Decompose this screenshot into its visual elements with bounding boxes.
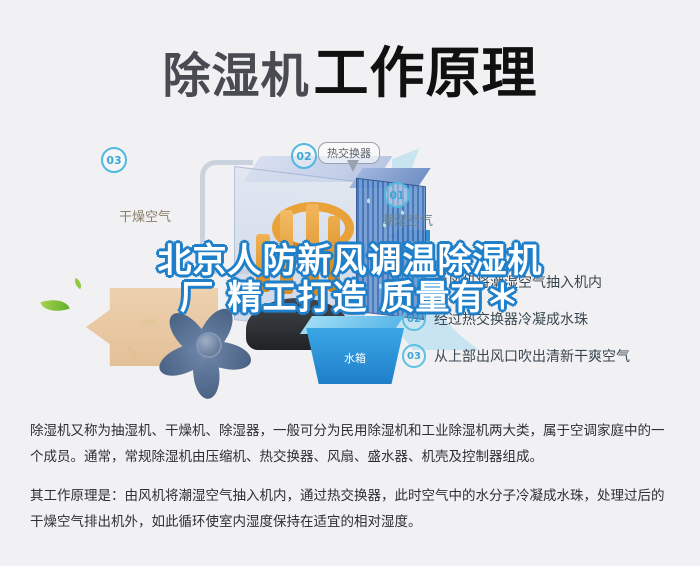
compressor-coil-group xyxy=(254,200,350,308)
legend-number: 01 xyxy=(402,270,426,294)
title-part-dehumidifier: 除湿机 xyxy=(162,48,309,104)
legend-text: 从上部出风口吹出清新干爽空气 xyxy=(434,346,630,366)
diagram-stage: 水箱 03 02 01 热交换器 干燥空气 潮湿空气 01 由风机将潮湿空气抽入… xyxy=(0,120,700,390)
paragraph-definition: 除湿机又称为抽湿机、干燥机、除湿器，一般可分为民用除湿机和工业除湿机两大类，属于… xyxy=(30,418,672,471)
title-part-principle: 工作原理 xyxy=(314,41,538,105)
legend-list: 01 由风机将潮湿空气抽入机内 02 经过热交换器冷凝成水珠 03 从上部出风口… xyxy=(402,270,692,381)
legend-number: 03 xyxy=(402,344,426,368)
diagram-badge-03: 03 xyxy=(101,147,127,173)
coil-bar xyxy=(256,234,270,292)
diagram-badge-02: 02 xyxy=(291,143,317,169)
legend-number: 02 xyxy=(402,307,426,331)
label-humid-air: 潮湿空气 xyxy=(381,210,433,229)
diagram-badge-01: 01 xyxy=(384,182,410,208)
water-tank-label: 水箱 xyxy=(344,350,366,366)
legend-item: 03 从上部出风口吹出清新干爽空气 xyxy=(402,344,692,368)
water-tank: 水箱 xyxy=(300,316,410,388)
refrigerant-pipe xyxy=(200,160,253,274)
coil-bar xyxy=(280,210,293,294)
coil-bar xyxy=(306,204,319,296)
legend-text: 由风机将潮湿空气抽入机内 xyxy=(434,272,602,292)
label-dry-air: 干燥空气 xyxy=(119,206,171,225)
leaf-icon xyxy=(40,294,69,316)
callout-tail-icon xyxy=(347,160,359,172)
fan-icon xyxy=(162,298,258,394)
leaf-icon xyxy=(72,278,84,289)
poster-root: 除湿机工作原理 xyxy=(0,0,700,566)
legend-item: 01 由风机将潮湿空气抽入机内 xyxy=(402,270,692,294)
legend-item: 02 经过热交换器冷凝成水珠 xyxy=(402,307,692,331)
paragraph-principle: 其工作原理是：由风机将潮湿空气抽入机内，通过热交换器，此时空气中的水分子冷凝成水… xyxy=(30,483,672,536)
body-copy: 除湿机又称为抽湿机、干燥机、除湿器，一般可分为民用除湿机和工业除湿机两大类，属于… xyxy=(30,418,672,547)
legend-text: 经过热交换器冷凝成水珠 xyxy=(434,309,588,329)
page-title: 除湿机工作原理 xyxy=(0,28,700,108)
coil-bar xyxy=(328,216,340,292)
fan-hub xyxy=(196,332,222,358)
